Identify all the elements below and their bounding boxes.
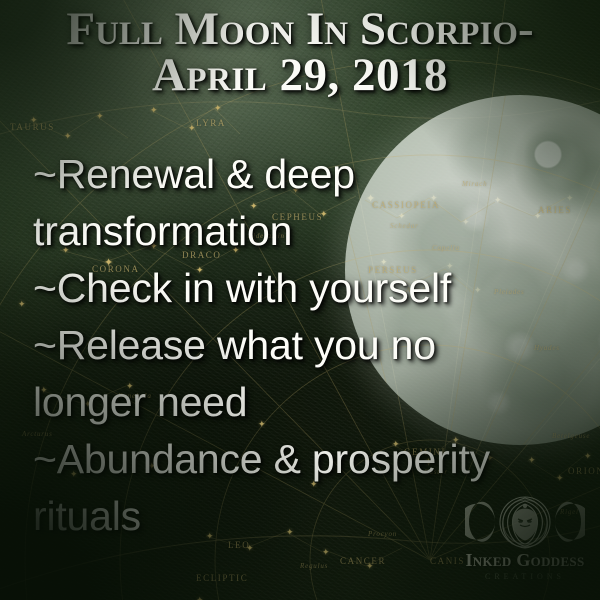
brand-logo: Inked Goddess Creations <box>455 492 595 592</box>
logo-tagline: Creations <box>455 572 595 581</box>
moon-phase-poster: ✦ ✦ ✦ ✦ ✦ ✦ ✦ ✦ ✦ ✦ ✦ ✦ ✦ ✦ ✦ ✦ ✦ ✦ ✦ ✦ … <box>0 0 600 600</box>
logo-brand-name: Inked Goddess <box>455 550 595 571</box>
triple-moon-goddess-icon <box>465 492 585 552</box>
